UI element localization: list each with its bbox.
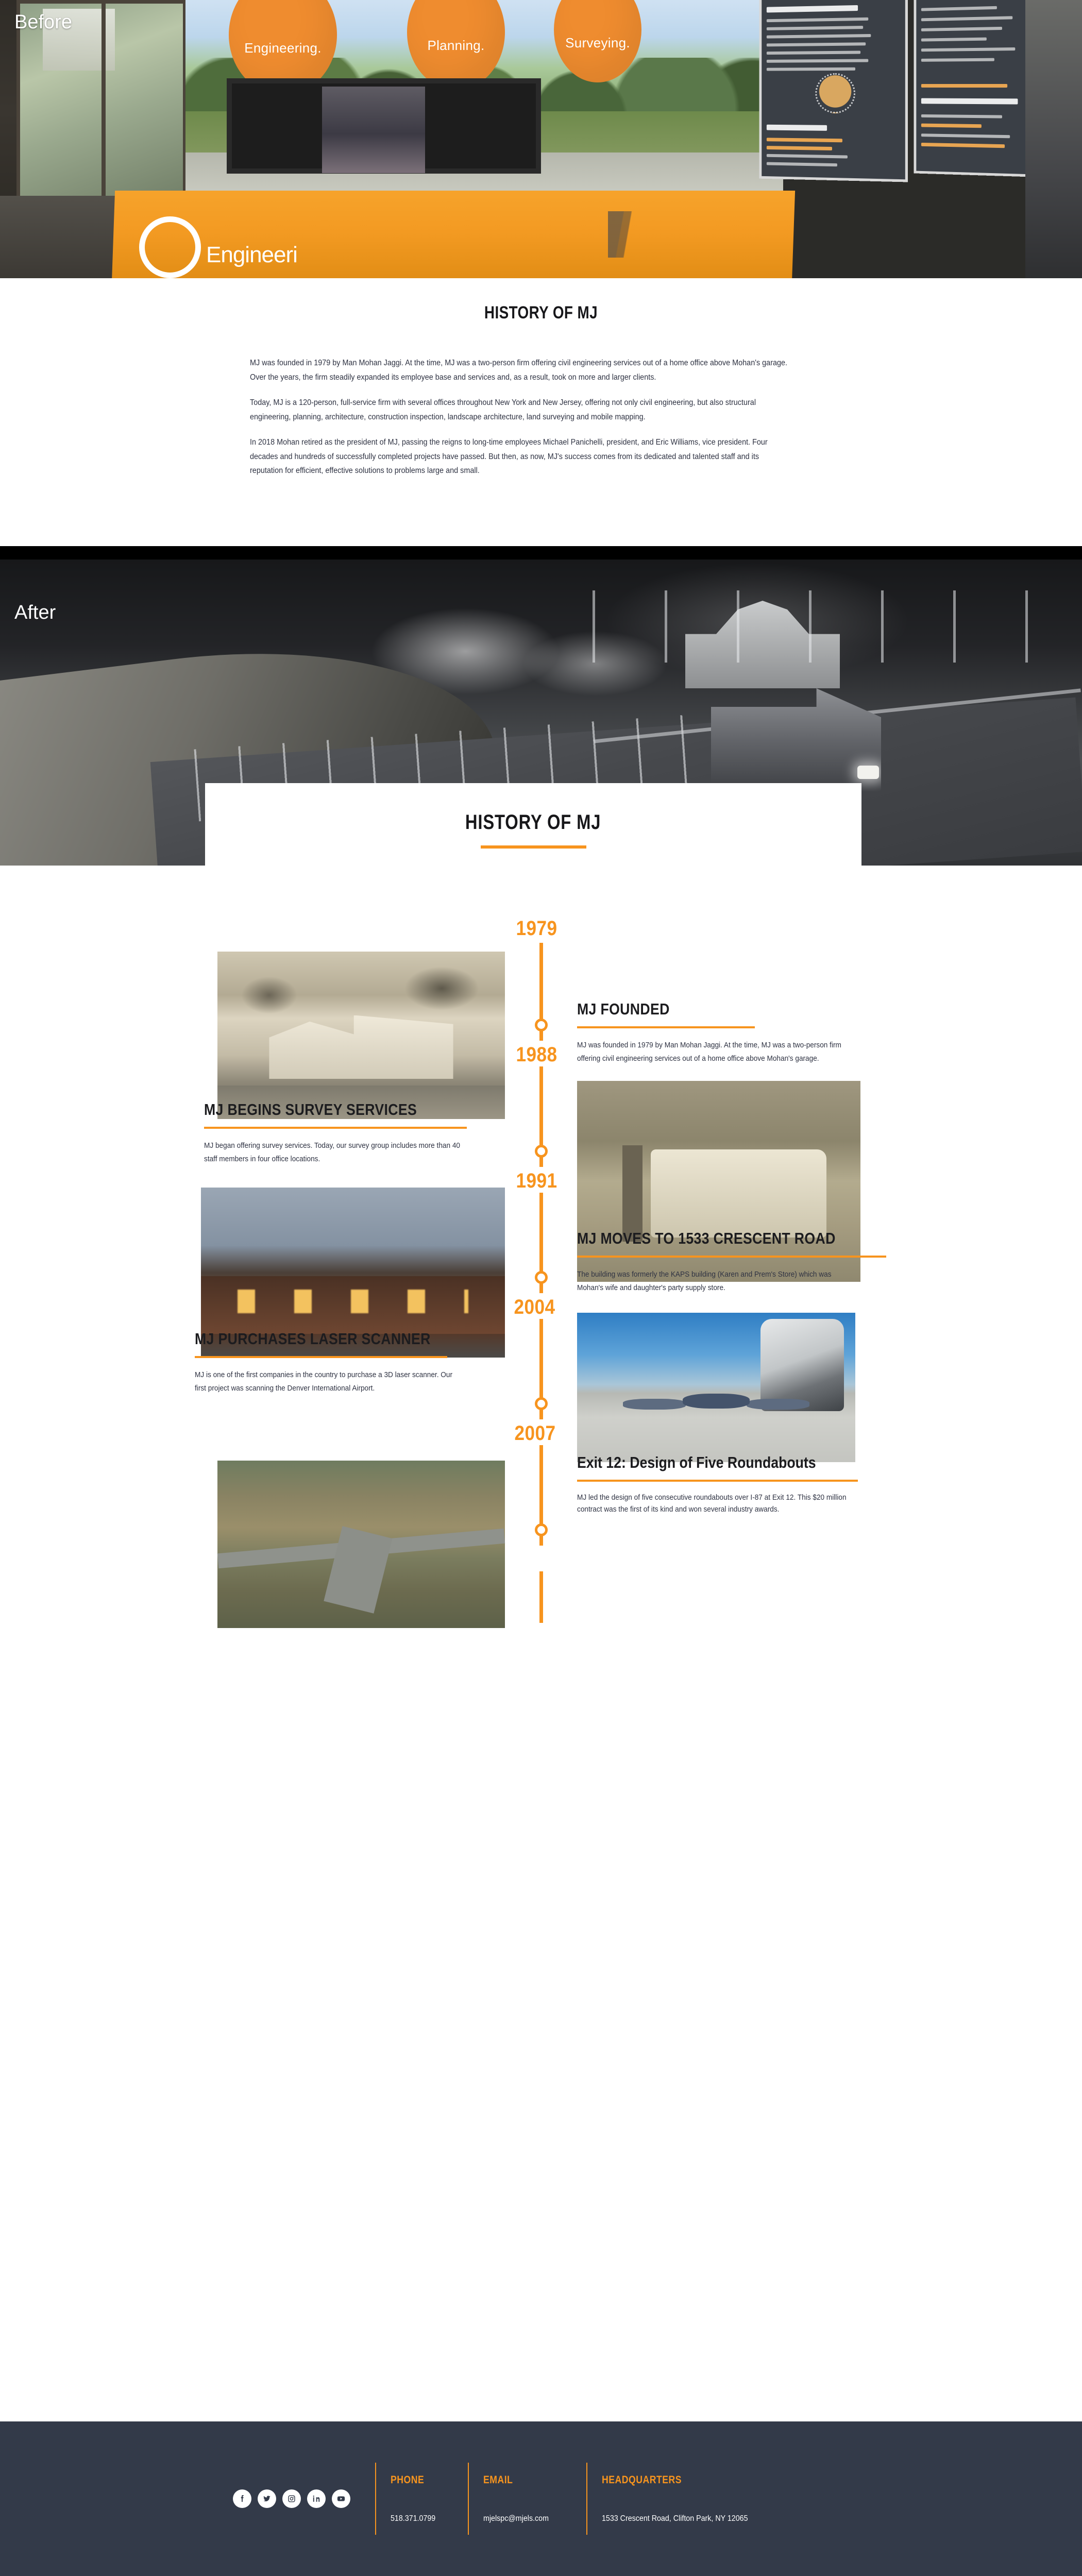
timeline-node-1979 bbox=[535, 1019, 548, 1031]
backdrop-circle-surveying-label: Surveying. bbox=[565, 35, 630, 51]
twitter-icon[interactable] bbox=[258, 2489, 276, 2508]
history-poster-left bbox=[759, 0, 908, 182]
footer-column-headquarters: HEADQUARTERS 1533 Crescent Road, Clifton… bbox=[586, 2463, 875, 2535]
mj-logo-wordmark: Engineeri bbox=[206, 242, 297, 268]
after-page-title: HISTORY OF MJ bbox=[465, 811, 601, 834]
timeline-body-1991: The building was formerly the KAPS build… bbox=[577, 1268, 848, 1295]
timeline-body-1979: MJ was founded in 1979 by Man Mohan Jagg… bbox=[577, 1039, 848, 1065]
display-television bbox=[227, 78, 541, 174]
hero-top-black-bar bbox=[0, 546, 1082, 560]
before-paragraph-2: Today, MJ is a 120-person, full-service … bbox=[250, 396, 791, 424]
timeline-node-2007 bbox=[535, 1523, 548, 1536]
timeline-heading-rule bbox=[577, 1256, 886, 1258]
footer-phone-label: PHONE bbox=[391, 2474, 455, 2486]
footer-column-phone: PHONE 518.371.0799 bbox=[375, 2463, 468, 2535]
footer-phone-value[interactable]: 518.371.0799 bbox=[391, 2514, 462, 2523]
timeline-heading-1988: MJ BEGINS SURVEY SERVICES bbox=[204, 1100, 514, 1120]
facebook-icon[interactable] bbox=[233, 2489, 251, 2508]
timeline-heading-rule bbox=[577, 1480, 858, 1482]
timeline-heading-rule bbox=[195, 1356, 447, 1358]
timeline-photo-2007 bbox=[217, 1461, 505, 1628]
before-page-title: HISTORY OF MJ bbox=[97, 303, 985, 323]
timeline-photo-2004 bbox=[577, 1313, 855, 1462]
timeline-body-2004: MJ is one of the first companies in the … bbox=[195, 1368, 457, 1395]
backdrop-circle-engineering-label: Engineering. bbox=[244, 40, 322, 56]
timeline-entry-2007: Exit 12: Design of Five Roundabouts MJ l… bbox=[577, 1453, 907, 1516]
after-title-card: HISTORY OF MJ bbox=[205, 783, 861, 876]
timeline-entry-1991: MJ MOVES TO 1533 CRESCENT ROAD The build… bbox=[577, 1229, 907, 1295]
timeline-year-2004: 2004 bbox=[514, 1296, 555, 1319]
before-label: Before bbox=[14, 11, 72, 33]
footer-column-email: EMAIL mjelspc@mjels.com bbox=[468, 2463, 586, 2535]
footer-hq-label: HEADQUARTERS bbox=[602, 2474, 831, 2486]
world-population-globe bbox=[815, 73, 855, 113]
mj-logo-mark bbox=[139, 216, 201, 278]
timeline-entry-2004: MJ PURCHASES LASER SCANNER MJ is one of … bbox=[195, 1329, 514, 1395]
site-footer: PHONE 518.371.0799 EMAIL mjelspc@mjels.c… bbox=[0, 2421, 1082, 2576]
social-links bbox=[233, 2489, 350, 2508]
work-lights bbox=[593, 590, 1056, 663]
timeline-entry-1988: MJ BEGINS SURVEY SERVICES MJ began offer… bbox=[204, 1100, 513, 1166]
footer-email-value[interactable]: mjelspc@mjels.com bbox=[483, 2514, 578, 2523]
instagram-icon[interactable] bbox=[282, 2489, 301, 2508]
before-hero-photo: Engineering. Planning. Surveying. bbox=[0, 0, 1082, 278]
footer-hq-value: 1533 Crescent Road, Clifton Park, NY 120… bbox=[602, 2514, 853, 2523]
timeline-heading-1979: MJ FOUNDED bbox=[577, 999, 843, 1019]
dump-truck bbox=[711, 688, 881, 791]
timeline-year-2007: 2007 bbox=[514, 1422, 555, 1445]
linkedin-icon[interactable] bbox=[307, 2489, 326, 2508]
title-underline-rule bbox=[481, 845, 586, 849]
timeline-heading-2004: MJ PURCHASES LASER SCANNER bbox=[195, 1329, 505, 1349]
backdrop-circle-planning-label: Planning. bbox=[427, 38, 484, 54]
after-label: After bbox=[14, 602, 56, 624]
before-hero-banner: Engineering. Planning. Surveying. bbox=[0, 0, 1082, 278]
brochure-stack bbox=[608, 211, 793, 258]
timeline-heading-rule bbox=[204, 1127, 467, 1129]
youtube-icon[interactable] bbox=[332, 2489, 350, 2508]
timeline-heading-2007: Exit 12: Design of Five Roundabouts bbox=[577, 1453, 896, 1472]
before-body-copy: MJ was founded in 1979 by Man Mohan Jagg… bbox=[250, 356, 832, 478]
timeline-year-1988: 1988 bbox=[516, 1043, 557, 1066]
hall-wall-right bbox=[1025, 0, 1082, 278]
timeline-node-1988 bbox=[535, 1145, 548, 1158]
footer-email-label: EMAIL bbox=[483, 2474, 570, 2486]
footer-inner: PHONE 518.371.0799 EMAIL mjelspc@mjels.c… bbox=[0, 2421, 1082, 2576]
before-paragraph-1: MJ was founded in 1979 by Man Mohan Jagg… bbox=[250, 356, 791, 384]
timeline-node-2004 bbox=[535, 1397, 548, 1410]
timeline-node-1991 bbox=[535, 1271, 548, 1284]
before-paragraph-3: In 2018 Mohan retired as the president o… bbox=[250, 435, 791, 478]
timeline-body-2007: MJ led the design of five consecutive ro… bbox=[577, 1492, 868, 1516]
timeline-year-1979: 1979 bbox=[516, 917, 557, 940]
timeline-body-1988: MJ began offering survey services. Today… bbox=[204, 1139, 466, 1166]
timeline-year-1991: 1991 bbox=[516, 1170, 557, 1193]
timeline-entry-1979: MJ FOUNDED MJ was founded in 1979 by Man… bbox=[577, 999, 886, 1065]
history-timeline: 1979 MJ FOUNDED MJ was founded in 1979 b… bbox=[0, 866, 1082, 2391]
history-poster-right bbox=[914, 0, 1037, 177]
timeline-photo-1979 bbox=[217, 952, 505, 1119]
timeline-heading-1991: MJ MOVES TO 1533 CRESCENT ROAD bbox=[577, 1229, 909, 1248]
timeline-heading-rule bbox=[577, 1026, 755, 1028]
before-content-section: HISTORY OF MJ MJ was founded in 1979 by … bbox=[0, 278, 1082, 546]
timeline-line-segment bbox=[539, 1571, 543, 1623]
tv-slide-photo bbox=[322, 87, 425, 173]
